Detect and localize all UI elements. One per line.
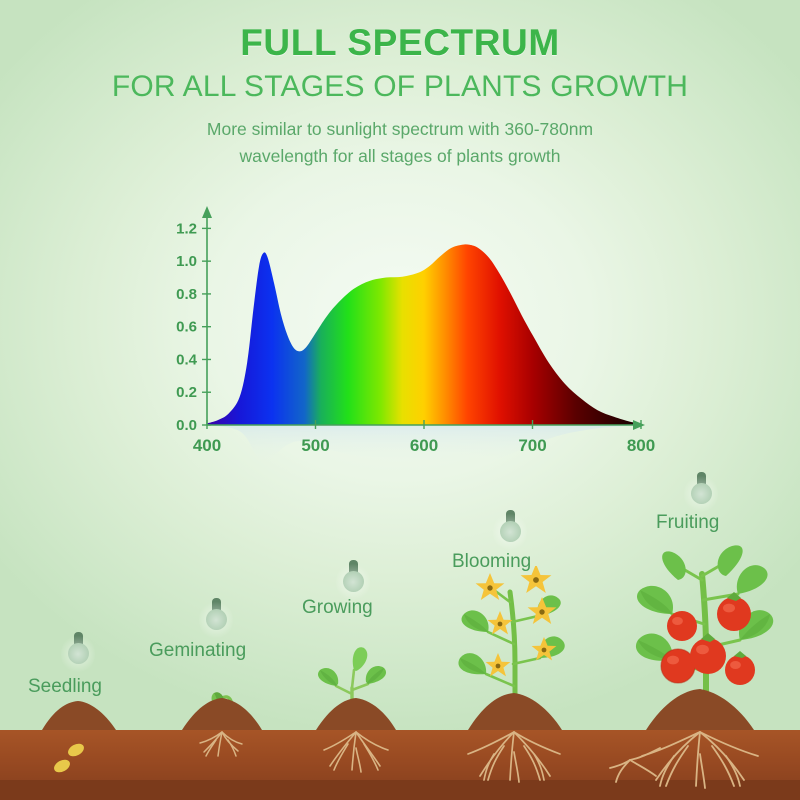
y-tick-label: 0.2 — [176, 384, 197, 401]
x-axis-arrow — [633, 420, 645, 430]
y-tick-label: 0.4 — [176, 351, 198, 368]
x-tick-label: 800 — [627, 436, 655, 455]
y-tick-label: 0.8 — [176, 286, 197, 303]
y-tick-label: 1.0 — [176, 253, 197, 270]
bulb-glow — [336, 562, 370, 602]
bulb-glow — [684, 474, 718, 514]
y-tick-label: 0.6 — [176, 319, 197, 336]
header-block: FULL SPECTRUM FOR ALL STAGES OF PLANTS G… — [0, 0, 800, 169]
roots-fruiting — [610, 732, 758, 788]
y-tick-label: 0.0 — [176, 417, 197, 434]
soil-detail-layer — [0, 688, 800, 800]
soil-mound-growing — [316, 698, 396, 730]
x-tick-label: 500 — [301, 436, 329, 455]
bulb-icon-fruiting — [686, 472, 716, 504]
description-line-2: wavelength for all stages of plants grow… — [0, 143, 800, 170]
bulb-glow — [493, 512, 527, 552]
bulb-icon-geminating — [201, 598, 231, 630]
stage-label-fruiting: Fruiting — [656, 512, 719, 534]
y-axis-arrow — [202, 206, 212, 218]
soil-mound-blooming — [468, 693, 562, 730]
soil-mound-fruiting — [646, 689, 754, 730]
infographic-canvas: FULL SPECTRUM FOR ALL STAGES OF PLANTS G… — [0, 0, 800, 800]
soil-mound-geminating — [182, 698, 262, 730]
roots-growing — [324, 732, 388, 772]
bulb-icon-blooming — [495, 510, 525, 542]
bulb-icon-seedling — [63, 632, 93, 664]
x-tick-label: 700 — [518, 436, 546, 455]
description-block: More similar to sunlight spectrum with 3… — [0, 116, 800, 169]
bulb-icon-growing — [338, 560, 368, 592]
roots-geminating — [200, 732, 242, 756]
spectrum-chart: 0.00.20.40.60.81.01.2 400500600700800 — [165, 196, 655, 471]
bulb-glow — [61, 634, 95, 674]
page-subtitle: FOR ALL STAGES OF PLANTS GROWTH — [0, 72, 800, 102]
spectrum-chart-svg: 0.00.20.40.60.81.01.2 400500600700800 — [165, 196, 655, 471]
buried-seeds — [52, 741, 86, 775]
x-tick-label: 600 — [410, 436, 438, 455]
y-axis-ticks: 0.00.20.40.60.81.01.2 — [176, 220, 211, 434]
bulb-glow — [199, 600, 233, 640]
x-tick-label: 400 — [193, 436, 221, 455]
stage-label-growing: Growing — [302, 597, 373, 619]
roots-blooming — [468, 732, 560, 782]
y-tick-label: 1.2 — [176, 220, 197, 237]
soil-mound-seedling — [42, 701, 116, 730]
stage-label-geminating: Geminating — [149, 640, 246, 662]
description-line-1: More similar to sunlight spectrum with 3… — [0, 116, 800, 143]
page-title: FULL SPECTRUM — [0, 24, 800, 61]
spectrum-curve — [207, 244, 641, 425]
